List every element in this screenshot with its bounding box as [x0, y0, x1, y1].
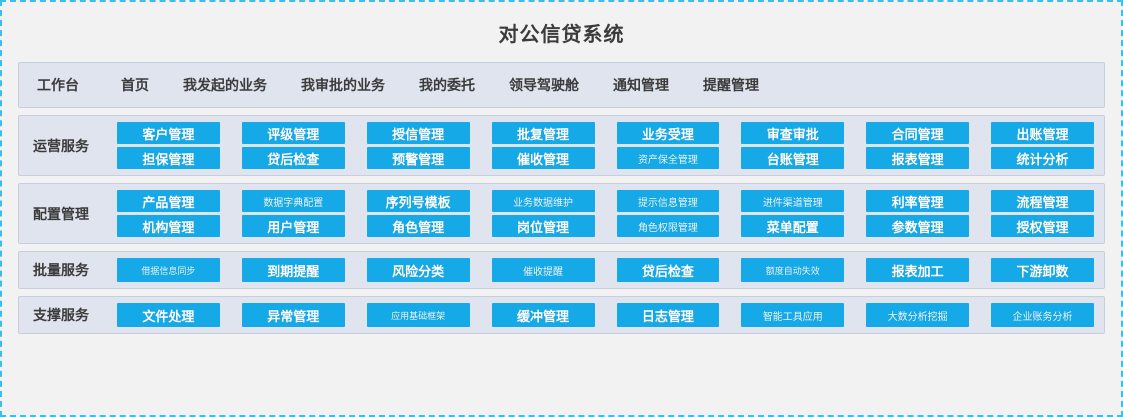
- nav-item-4[interactable]: 我的委托: [419, 75, 475, 95]
- nav-item-1[interactable]: 首页: [121, 75, 149, 95]
- module-tile[interactable]: 用户管理: [242, 215, 345, 237]
- module-tile[interactable]: 催收管理: [492, 147, 595, 169]
- tile-grid: 借据信息同步到期提醒风险分类催收提醒贷后检查额度自动失效报表加工下游卸数: [117, 258, 1094, 282]
- tile-grid: 文件处理异常管理应用基础框架缓冲管理日志管理智能工具应用大数分析挖掘企业账务分析: [117, 303, 1094, 327]
- module-tile[interactable]: 文件处理: [117, 303, 220, 327]
- app-window: 对公信贷系统 工作台首页我发起的业务我审批的业务我的委托领导驾驶舱通知管理提醒管…: [0, 0, 1123, 417]
- section-1: 配置管理产品管理数据字典配置序列号模板业务数据维护提示信息管理进件渠道管理利率管…: [18, 183, 1105, 244]
- main-navigation: 工作台首页我发起的业务我审批的业务我的委托领导驾驶舱通知管理提醒管理: [18, 62, 1105, 108]
- section-label: 批量服务: [33, 260, 117, 280]
- section-0: 运营服务客户管理评级管理授信管理批复管理业务受理审查审批合同管理出账管理担保管理…: [18, 115, 1105, 176]
- module-tile[interactable]: 评级管理: [242, 122, 345, 144]
- nav-item-0[interactable]: 工作台: [37, 75, 79, 95]
- module-tile[interactable]: 进件渠道管理: [741, 190, 844, 212]
- page-title: 对公信贷系统: [499, 18, 625, 47]
- module-tile[interactable]: 企业账务分析: [991, 303, 1094, 327]
- module-tile[interactable]: 数据字典配置: [242, 190, 345, 212]
- module-tile[interactable]: 智能工具应用: [741, 303, 844, 327]
- module-tile[interactable]: 岗位管理: [492, 215, 595, 237]
- module-tile[interactable]: 流程管理: [991, 190, 1094, 212]
- module-tile[interactable]: 合同管理: [866, 122, 969, 144]
- module-tile[interactable]: 出账管理: [991, 122, 1094, 144]
- section-2: 批量服务借据信息同步到期提醒风险分类催收提醒贷后检查额度自动失效报表加工下游卸数: [18, 251, 1105, 289]
- section-label: 运营服务: [33, 136, 117, 156]
- module-tile[interactable]: 利率管理: [866, 190, 969, 212]
- section-label: 配置管理: [33, 204, 117, 224]
- module-tile[interactable]: 业务受理: [617, 122, 720, 144]
- module-tile[interactable]: 日志管理: [617, 303, 720, 327]
- module-tile[interactable]: 大数分析挖掘: [866, 303, 969, 327]
- section-label: 支撑服务: [33, 305, 117, 325]
- module-tile[interactable]: 提示信息管理: [617, 190, 720, 212]
- module-tile[interactable]: 风险分类: [367, 258, 470, 282]
- section-3: 支撑服务文件处理异常管理应用基础框架缓冲管理日志管理智能工具应用大数分析挖掘企业…: [18, 296, 1105, 334]
- module-tile[interactable]: 报表加工: [866, 258, 969, 282]
- module-tile[interactable]: 客户管理: [117, 122, 220, 144]
- module-tile[interactable]: 预警管理: [367, 147, 470, 169]
- module-tile[interactable]: 到期提醒: [242, 258, 345, 282]
- module-sections: 运营服务客户管理评级管理授信管理批复管理业务受理审查审批合同管理出账管理担保管理…: [18, 115, 1105, 334]
- module-tile[interactable]: 业务数据维护: [492, 190, 595, 212]
- module-tile[interactable]: 产品管理: [117, 190, 220, 212]
- module-tile[interactable]: 应用基础框架: [367, 303, 470, 327]
- module-tile[interactable]: 报表管理: [866, 147, 969, 169]
- module-tile[interactable]: 担保管理: [117, 147, 220, 169]
- module-tile[interactable]: 机构管理: [117, 215, 220, 237]
- module-tile[interactable]: 授信管理: [367, 122, 470, 144]
- nav-item-6[interactable]: 通知管理: [613, 75, 669, 95]
- module-tile[interactable]: 催收提醒: [492, 258, 595, 282]
- module-tile[interactable]: 角色管理: [367, 215, 470, 237]
- module-tile[interactable]: 台账管理: [741, 147, 844, 169]
- module-tile[interactable]: 借据信息同步: [117, 258, 220, 282]
- module-tile[interactable]: 统计分析: [991, 147, 1094, 169]
- module-tile[interactable]: 资产保全管理: [617, 147, 720, 169]
- nav-item-2[interactable]: 我发起的业务: [183, 75, 267, 95]
- module-tile[interactable]: 角色权限管理: [617, 215, 720, 237]
- nav-item-5[interactable]: 领导驾驶舱: [509, 75, 579, 95]
- module-tile[interactable]: 菜单配置: [741, 215, 844, 237]
- module-tile[interactable]: 授权管理: [991, 215, 1094, 237]
- module-tile[interactable]: 缓冲管理: [492, 303, 595, 327]
- module-tile[interactable]: 序列号模板: [367, 190, 470, 212]
- module-tile[interactable]: 额度自动失效: [741, 258, 844, 282]
- module-tile[interactable]: 贷后检查: [617, 258, 720, 282]
- module-tile[interactable]: 异常管理: [242, 303, 345, 327]
- module-tile[interactable]: 贷后检查: [242, 147, 345, 169]
- nav-item-3[interactable]: 我审批的业务: [301, 75, 385, 95]
- tile-grid: 产品管理数据字典配置序列号模板业务数据维护提示信息管理进件渠道管理利率管理流程管…: [117, 190, 1094, 237]
- title-bar: 对公信贷系统: [2, 2, 1121, 62]
- module-tile[interactable]: 参数管理: [866, 215, 969, 237]
- tile-grid: 客户管理评级管理授信管理批复管理业务受理审查审批合同管理出账管理担保管理贷后检查…: [117, 122, 1094, 169]
- module-tile[interactable]: 批复管理: [492, 122, 595, 144]
- nav-item-7[interactable]: 提醒管理: [703, 75, 759, 95]
- module-tile[interactable]: 审查审批: [741, 122, 844, 144]
- module-tile[interactable]: 下游卸数: [991, 258, 1094, 282]
